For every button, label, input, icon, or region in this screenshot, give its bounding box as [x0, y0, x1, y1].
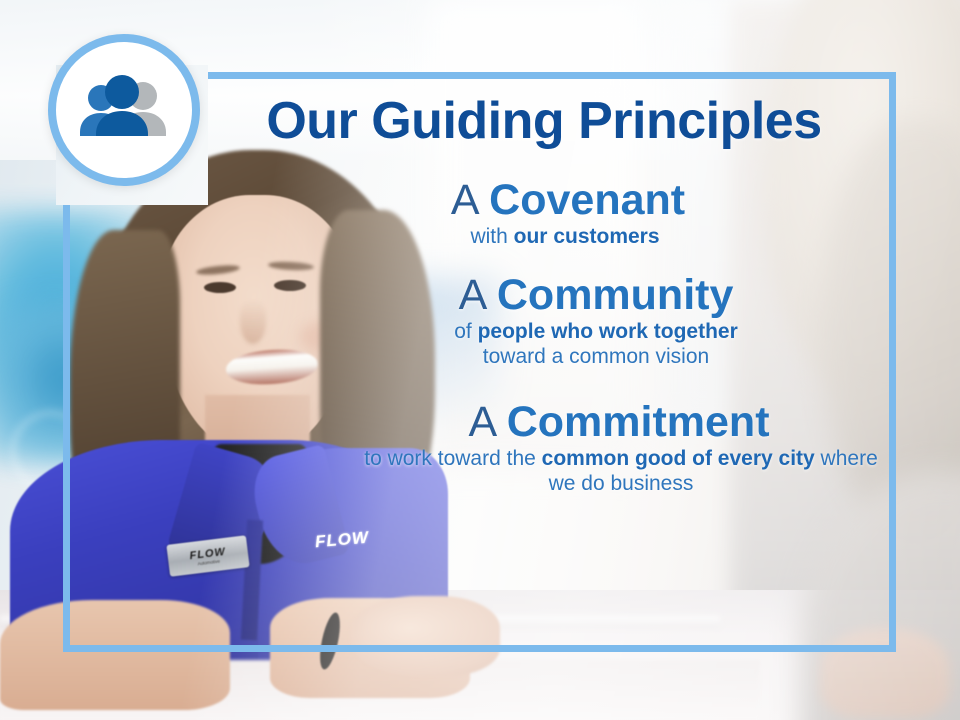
subtext-post: where [815, 447, 878, 470]
principle-community: A Community of people who work togethert… [300, 273, 880, 370]
subtext-line2: we do business [549, 472, 694, 495]
banner-image: FLOW Automotive FLOW Our Guiding Princip… [0, 0, 960, 720]
foreground-customer-hand [820, 628, 950, 718]
principle-keyword: Covenant [489, 176, 685, 224]
subtext-pre: with [470, 225, 513, 248]
principle-heading: A Commitment [358, 400, 880, 446]
principle-subtext: of people who work togethertoward a comm… [312, 319, 880, 370]
page-title: Our Guiding Principles [214, 95, 874, 147]
principle-lead: A [459, 271, 497, 319]
principle-subtext: with our customers [300, 224, 836, 250]
principle-commitment: A Commitment to work toward the common g… [300, 400, 880, 497]
subtext-bold: people who work together [478, 320, 738, 343]
principle-lead: A [451, 176, 489, 224]
principle-lead: A [468, 398, 506, 446]
principle-covenant: A Covenant with our customers [300, 178, 880, 249]
subtext-pre: of [454, 320, 477, 343]
subject-clasped-hands [350, 596, 500, 676]
subtext-bold: common good of every city [542, 447, 815, 470]
subtext-line2: toward a common vision [483, 345, 709, 368]
subject-nose [240, 300, 266, 344]
people-group-icon [48, 34, 200, 186]
subject-arm-left [0, 600, 230, 710]
subtext-bold: our customers [514, 225, 660, 248]
subtext-pre: to work toward the [364, 447, 541, 470]
principle-heading: A Covenant [300, 178, 836, 224]
principle-subtext: to work toward the common good of every … [358, 446, 880, 497]
principle-keyword: Commitment [507, 398, 770, 446]
subject-eye-left [204, 282, 236, 293]
principle-heading: A Community [312, 273, 880, 319]
principles-list: A Covenant with our customers A Communit… [300, 178, 880, 497]
principle-keyword: Community [497, 271, 734, 319]
